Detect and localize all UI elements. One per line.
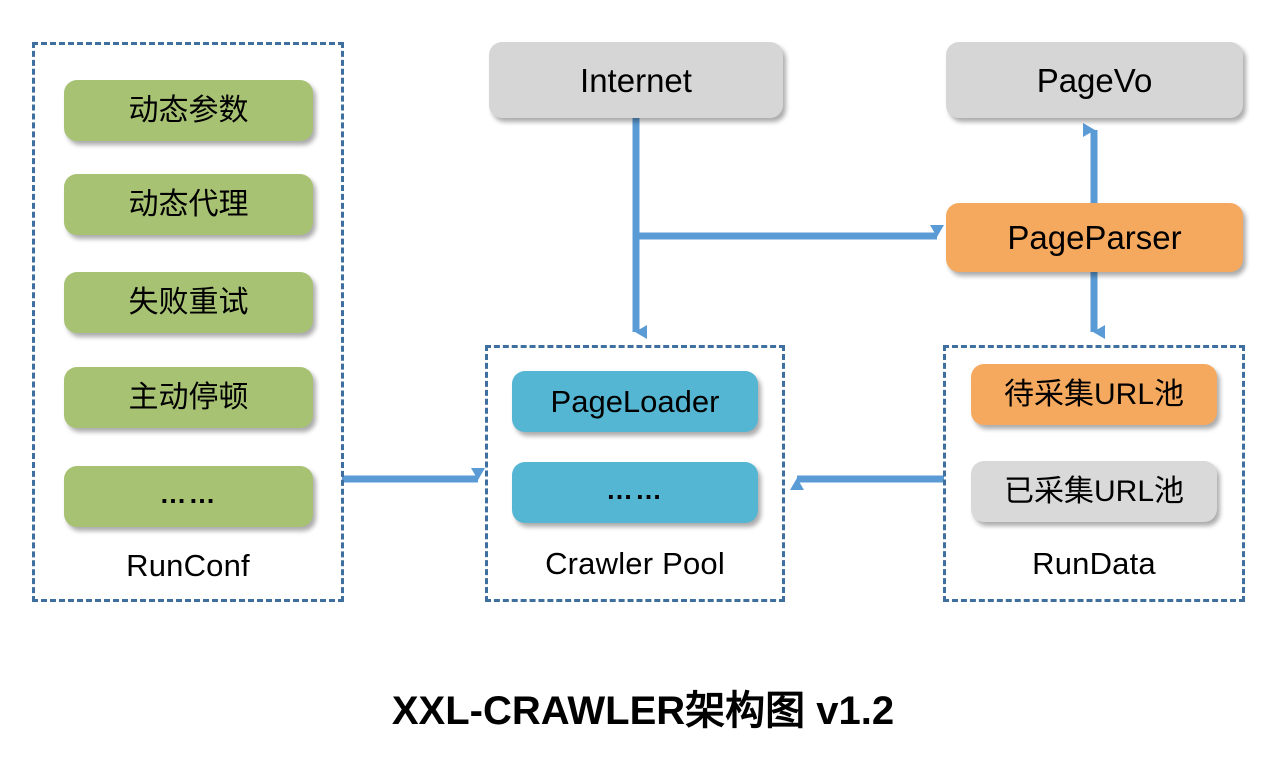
group-rundata-label: RunData [946, 548, 1242, 579]
node-dynamic-params[interactable]: 动态参数 [64, 80, 313, 141]
diagram-title: XXL-CRAWLER架构图 v1.2 [0, 678, 1286, 736]
node-active-pause[interactable]: 主动停顿 [64, 367, 313, 428]
node-pagevo-label: PageVo [1037, 64, 1153, 97]
node-dynamic-proxy-label: 动态代理 [129, 190, 249, 220]
node-internet[interactable]: Internet [489, 42, 783, 118]
node-page-loader-label: PageLoader [551, 386, 720, 417]
group-runconf-label: RunConf [35, 550, 341, 581]
diagram-canvas: RunConf 动态参数 动态代理 失败重试 主动停顿 …… Internet … [0, 0, 1286, 778]
node-pagevo[interactable]: PageVo [946, 42, 1243, 118]
node-runconf-more-label: …… [160, 481, 218, 508]
node-dynamic-params-label: 动态参数 [129, 96, 249, 126]
node-pending-url-pool[interactable]: 待采集URL池 [971, 364, 1217, 425]
node-pageparser[interactable]: PageParser [946, 203, 1243, 272]
node-runconf-more[interactable]: …… [64, 466, 313, 527]
node-internet-label: Internet [580, 64, 692, 97]
node-failure-retry-label: 失败重试 [129, 288, 249, 318]
node-dynamic-proxy[interactable]: 动态代理 [64, 174, 313, 235]
node-active-pause-label: 主动停顿 [129, 383, 249, 413]
node-collected-url-pool-label: 已采集URL池 [1004, 477, 1184, 507]
node-crawler-pool-more-label: …… [606, 477, 664, 504]
node-page-loader[interactable]: PageLoader [512, 371, 758, 432]
node-pageparser-label: PageParser [1007, 221, 1181, 254]
node-crawler-pool-more[interactable]: …… [512, 462, 758, 523]
node-failure-retry[interactable]: 失败重试 [64, 272, 313, 333]
node-pending-url-pool-label: 待采集URL池 [1004, 380, 1184, 410]
node-collected-url-pool[interactable]: 已采集URL池 [971, 461, 1217, 522]
group-crawler-pool-label: Crawler Pool [488, 548, 782, 579]
